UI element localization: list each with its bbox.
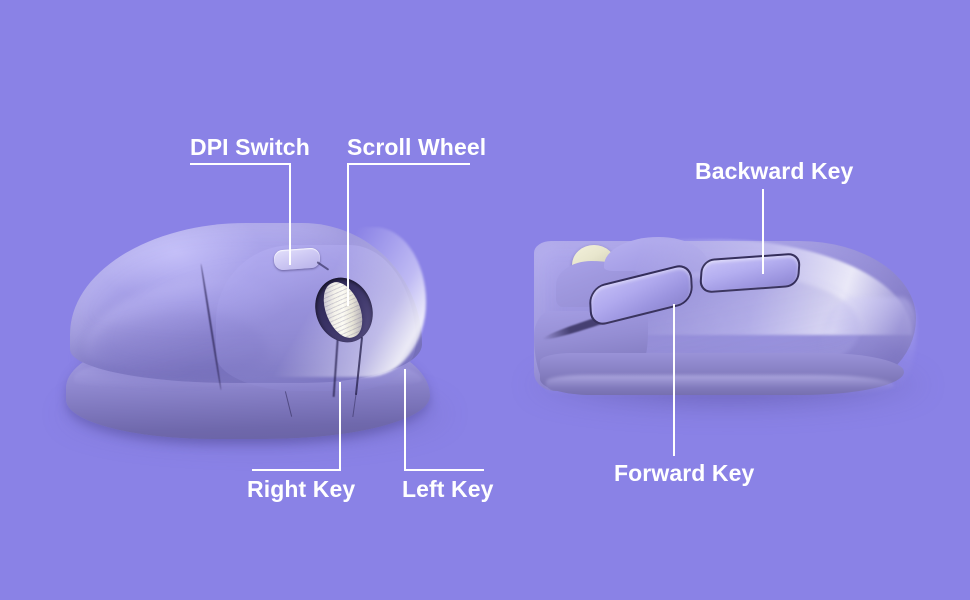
leader-underline-right-key: [252, 469, 341, 471]
leader-underline-left-key: [404, 469, 484, 471]
leader-stem-forward-key: [673, 304, 675, 456]
leader-stem-backward-key: [762, 189, 764, 274]
callout-label-left-key: Left Key: [402, 478, 494, 501]
mouse-side-base-gloss: [546, 375, 894, 397]
infographic-canvas: DPI Switch Scroll Wheel Right Key Left K…: [0, 0, 970, 600]
callout-label-right-key: Right Key: [247, 478, 355, 501]
callout-label-dpi-switch: DPI Switch: [190, 136, 310, 159]
mouse-side-profile-view: [520, 225, 930, 415]
leader-underline-dpi-switch: [190, 163, 291, 165]
callout-label-backward-key: Backward Key: [695, 160, 853, 183]
mouse-three-quarter-view: [58, 215, 448, 445]
dpi-switch-button[interactable]: [273, 247, 320, 270]
callout-label-forward-key: Forward Key: [614, 462, 754, 485]
leader-stem-dpi-switch: [289, 163, 291, 265]
leader-stem-right-key: [339, 382, 341, 471]
leader-underline-scroll-wheel: [347, 163, 470, 165]
backward-key-button[interactable]: [699, 252, 801, 293]
leader-stem-left-key: [404, 369, 406, 471]
callout-label-scroll-wheel: Scroll Wheel: [347, 136, 486, 159]
leader-stem-scroll-wheel: [347, 163, 349, 306]
